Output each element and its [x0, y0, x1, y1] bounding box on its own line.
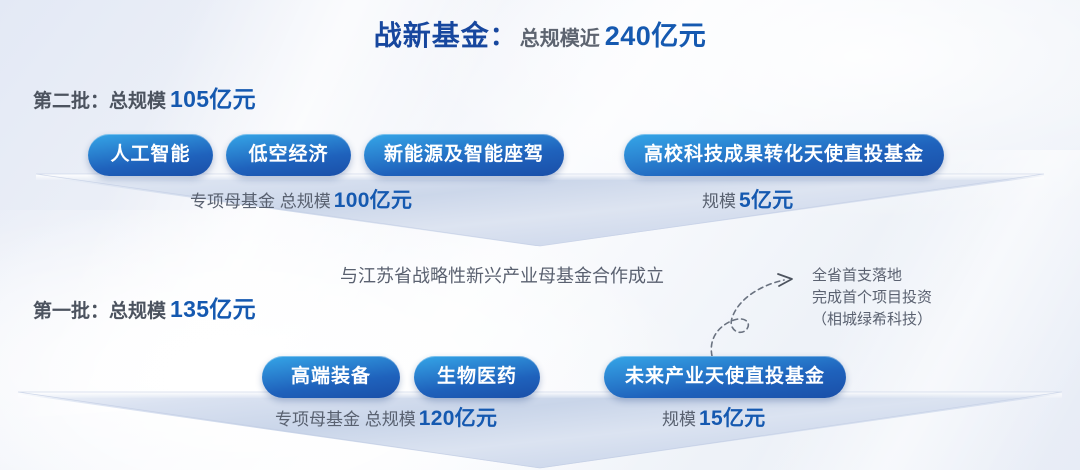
batch2-caption-left: 专项母基金 总规模100亿元	[190, 184, 412, 214]
pill-high-end-equipment-label: 高端装备	[291, 366, 371, 387]
pill-ai[interactable]: 人工智能	[88, 134, 213, 176]
annotation-line-3: （相城绿希科技）	[812, 309, 932, 331]
pill-university-angel-fund-label: 高校科技成果转化天使直投基金	[644, 144, 924, 165]
pill-future-industry-angel-fund[interactable]: 未来产业天使直投基金	[604, 356, 846, 398]
pill-future-industry-angel-fund-label: 未来产业天使直投基金	[625, 366, 825, 387]
page-title-main: 战新基金	[374, 20, 490, 51]
pill-low-altitude-economy[interactable]: 低空经济	[226, 134, 351, 176]
annotation-line-1: 全省首支落地	[812, 265, 932, 287]
page-title-total-amount: 240亿元	[605, 21, 707, 51]
batch1-caption-left-amount: 120亿元	[419, 407, 498, 430]
batch2-caption-right: 规模5亿元	[702, 184, 794, 214]
infographic-canvas: 战新基金：总规模近240亿元 第二批：总规模105亿元 人工智能 低空经济 新能…	[0, 0, 1080, 470]
batch2-heading-amount: 105亿元	[170, 86, 256, 112]
annotation-line-2: 完成首个项目投资	[812, 287, 932, 309]
pill-biomedicine[interactable]: 生物医药	[414, 356, 540, 398]
pill-high-end-equipment[interactable]: 高端装备	[262, 356, 400, 398]
page-title-colon: ：	[490, 21, 516, 51]
annotation-block: 全省首支落地 完成首个项目投资 （相城绿希科技）	[812, 265, 932, 331]
batch2-caption-right-amount: 5亿元	[739, 189, 794, 212]
batch2-caption-left-label: 专项母基金 总规模	[190, 192, 331, 211]
batch1-heading-amount: 135亿元	[170, 296, 256, 322]
batch2-caption-left-amount: 100亿元	[334, 189, 413, 212]
batch1-caption-right-label: 规模	[662, 410, 696, 429]
batch1-heading: 第一批：总规模135亿元	[33, 290, 256, 324]
batch1-caption-left: 专项母基金 总规模120亿元	[275, 402, 497, 432]
page-title: 战新基金：总规模近240亿元	[0, 14, 1080, 54]
chevron-band-batch1	[0, 388, 1080, 470]
page-title-subtext: 总规模近	[520, 28, 600, 50]
pill-new-energy-smart-cockpit-label: 新能源及智能座驾	[384, 144, 544, 165]
batch1-caption-right: 规模15亿元	[662, 402, 766, 432]
batch1-caption-right-amount: 15亿元	[699, 407, 766, 430]
dashed-curved-arrow-icon	[700, 258, 830, 358]
pill-university-angel-fund[interactable]: 高校科技成果转化天使直投基金	[624, 134, 944, 176]
chevron-band-batch2	[0, 170, 1080, 248]
pill-biomedicine-label: 生物医药	[437, 366, 517, 387]
pill-ai-label: 人工智能	[110, 144, 190, 165]
batch1-caption-left-label: 专项母基金 总规模	[275, 410, 416, 429]
batch2-heading-label: 第二批：总规模	[33, 91, 166, 112]
pill-new-energy-smart-cockpit[interactable]: 新能源及智能座驾	[364, 134, 564, 176]
batch1-heading-label: 第一批：总规模	[33, 301, 166, 322]
pill-low-altitude-economy-label: 低空经济	[248, 144, 328, 165]
batch2-caption-right-label: 规模	[702, 192, 736, 211]
cooperation-note: 与江苏省战略性新兴产业母基金合作成立	[340, 262, 664, 288]
batch2-heading: 第二批：总规模105亿元	[33, 80, 256, 114]
